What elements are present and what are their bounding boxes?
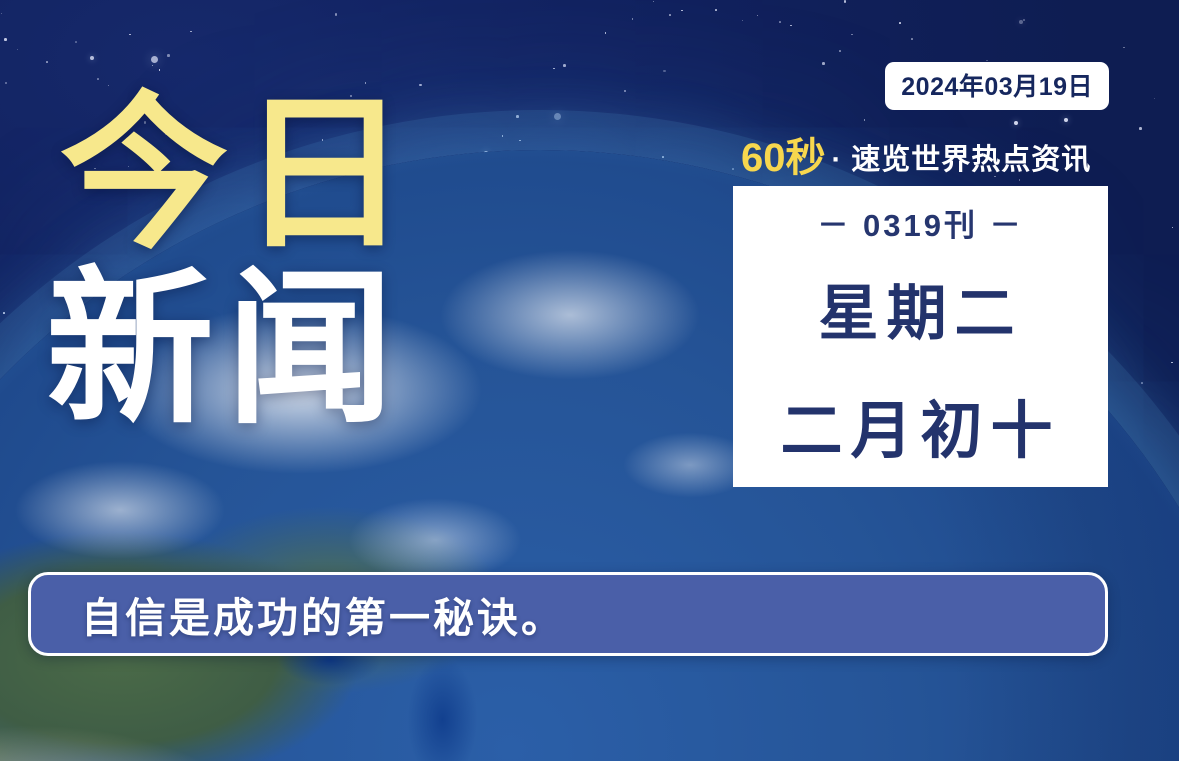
quote-text: 自信是成功的第一秘诀。 [81,584,565,644]
lunar-date-label: 二月初十 [780,380,1060,470]
tagline-seconds: 60秒 [741,136,826,180]
info-card: － 0319刊 － 星期二 二月初十 [733,186,1108,487]
tagline: 60秒· 速览世界热点资讯 [741,138,1091,178]
headline-line-news: 新闻 [46,267,420,432]
weekday-label: 星期二 [819,265,1023,352]
issue-number: － 0319刊 － [817,200,1023,245]
headline-line-today: 今日 [60,92,420,257]
tagline-description: · 速览世界热点资讯 [832,144,1092,176]
quote-banner: 自信是成功的第一秘诀。 [28,572,1108,656]
page-title: 今日 新闻 [46,92,420,431]
news-poster: 今日 新闻 2024年03月19日 60秒· 速览世界热点资讯 － 0319刊 … [0,0,1179,761]
date-badge: 2024年03月19日 [885,62,1109,110]
